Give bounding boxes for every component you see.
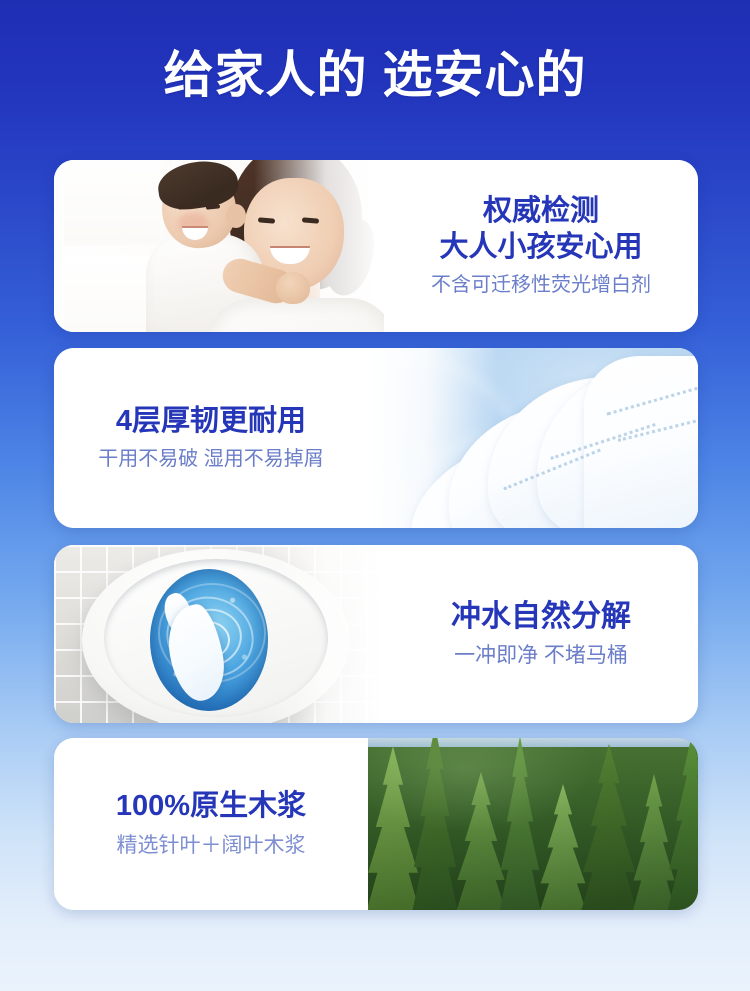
forest-photo xyxy=(368,738,698,910)
card-headline-line1: 权威检测 xyxy=(483,194,599,229)
card-headline-line2: 大人小孩安心用 xyxy=(439,230,642,265)
card-subline: 不含可迁移性荧光增白剂 xyxy=(431,272,651,298)
forest-shading xyxy=(368,738,698,910)
window-pane xyxy=(64,160,160,246)
baby-hand xyxy=(276,272,310,304)
card-subline: 精选针叶＋阔叶木浆 xyxy=(117,832,306,859)
card-headline-line1: 冲水自然分解 xyxy=(451,599,631,636)
card-text-block: 4层厚韧更耐用 干用不易破 湿用不易掉屑 xyxy=(54,348,368,528)
feature-card-flushable: 冲水自然分解 一冲即净 不堵马桶 xyxy=(54,545,698,723)
baby-ear xyxy=(226,204,246,228)
page-title: 给家人的 选安心的 xyxy=(164,50,587,100)
feature-card-virgin-pulp: 100%原生木浆 精选针叶＋阔叶木浆 xyxy=(54,738,698,910)
toilet-flush-photo xyxy=(54,545,384,723)
feature-card-four-ply: 4层厚韧更耐用 干用不易破 湿用不易掉屑 xyxy=(54,348,698,528)
mother-and-baby-photo xyxy=(54,160,384,332)
card-subline: 干用不易破 湿用不易掉屑 xyxy=(98,446,324,472)
card-text-block: 冲水自然分解 一冲即净 不堵马桶 xyxy=(384,545,698,723)
page-header: 给家人的 选安心的 xyxy=(0,0,750,150)
promo-page: 给家人的 选安心的 xyxy=(0,0,750,991)
card-subline: 一冲即净 不堵马桶 xyxy=(454,642,628,669)
card-headline-line1: 100%原生木浆 xyxy=(116,789,306,824)
feature-card-authority-test: 权威检测 大人小孩安心用 不含可迁移性荧光增白剂 xyxy=(54,160,698,332)
card-text-block: 权威检测 大人小孩安心用 不含可迁移性荧光增白剂 xyxy=(384,160,698,332)
card-headline-line1: 4层厚韧更耐用 xyxy=(116,404,306,439)
card-text-block: 100%原生木浆 精选针叶＋阔叶木浆 xyxy=(54,738,368,910)
photo-forest-background xyxy=(368,738,698,910)
stacked-tissue-photo xyxy=(368,348,698,528)
